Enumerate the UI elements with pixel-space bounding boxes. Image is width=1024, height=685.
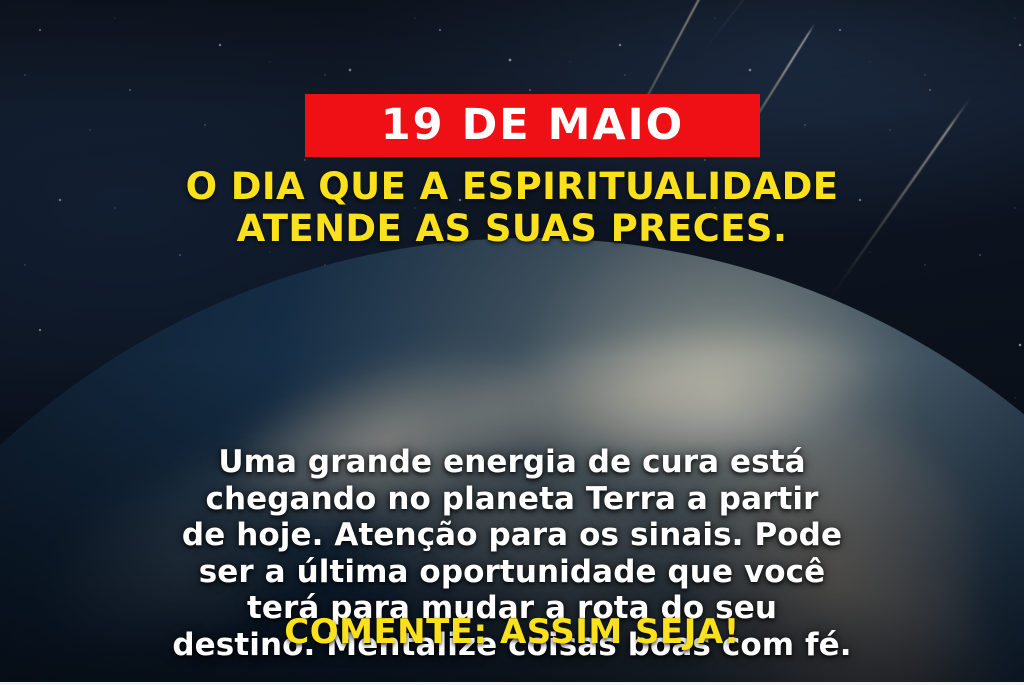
call-to-action-label: COMENTE: ASSIM SEJA!	[0, 612, 1024, 652]
date-banner: 19 DE MAIO	[305, 94, 760, 157]
body-line-4: ser a última oportunidade que você	[0, 554, 1024, 591]
body-line-3: de hoje. Atenção para os sinais. Pode	[0, 517, 1024, 554]
body-line-2: chegando no planeta Terra a partir	[0, 481, 1024, 518]
poster-content: 19 DE MAIO O DIA QUE A ESPIRITUALIDADE A…	[0, 0, 1024, 685]
headline-line-2: ATENDE AS SUAS PRECES.	[0, 208, 1024, 250]
date-banner-label: 19 DE MAIO	[381, 104, 684, 147]
headline-line-1: O DIA QUE A ESPIRITUALIDADE	[0, 166, 1024, 208]
headline: O DIA QUE A ESPIRITUALIDADE ATENDE AS SU…	[0, 166, 1024, 250]
poster-canvas: 19 DE MAIO O DIA QUE A ESPIRITUALIDADE A…	[0, 0, 1024, 685]
body-line-1: Uma grande energia de cura está	[0, 444, 1024, 481]
